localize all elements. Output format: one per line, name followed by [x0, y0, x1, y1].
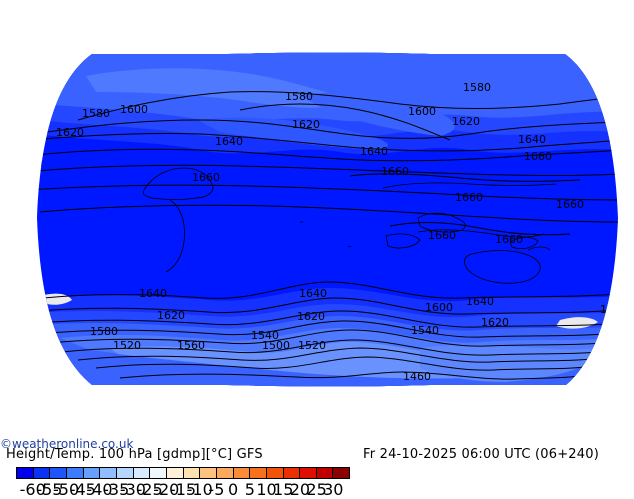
color-swatch [250, 468, 267, 478]
contour-label: 1660 [428, 229, 456, 242]
color-scale-ticks: -60-55-50-45-40-35-30-25-20-15-10-505101… [16, 480, 350, 491]
contour-label: 1620 [292, 118, 320, 131]
color-swatch [333, 468, 349, 478]
color-swatch [150, 468, 167, 478]
contour-label: 1660 [556, 198, 584, 211]
contour-label: 1660 [524, 150, 552, 163]
contour-label: 1580 [285, 90, 313, 103]
contour-label: 1620 [452, 115, 480, 128]
color-swatch [234, 468, 251, 478]
color-scale-bar[interactable] [16, 467, 350, 479]
footer: Height/Temp. 100 hPa [gdmp][°C] GFS Fr 2… [0, 437, 634, 490]
contour-label: 1620 [157, 309, 185, 322]
contour-label: 1580 [82, 107, 110, 120]
color-swatch [300, 468, 317, 478]
contour-label: 1540 [411, 324, 439, 337]
weather-map-page: 1580158016001600162016201580158016001600… [0, 0, 634, 490]
page-title: Height/Temp. 100 hPa [gdmp][°C] GFS [6, 447, 263, 462]
color-swatch [317, 468, 334, 478]
contour-label: 1600 [425, 301, 453, 314]
contour-label: 1620 [481, 316, 509, 329]
map-canvas[interactable]: 1580158016001600162016201580158016001600… [0, 0, 634, 437]
contour-label: 1640 [518, 133, 546, 146]
contour-label: 1520 [113, 339, 141, 352]
color-swatch [267, 468, 284, 478]
color-swatch [100, 468, 117, 478]
color-swatch [184, 468, 201, 478]
color-swatch [217, 468, 234, 478]
map-field-layer: 1580158016001600162016201580158016001600… [20, 45, 628, 395]
color-swatch [34, 468, 51, 478]
color-swatch [67, 468, 84, 478]
contour-label: 1560 [177, 339, 205, 352]
color-swatch [167, 468, 184, 478]
color-swatch [17, 468, 34, 478]
contour-label: 1460 [403, 370, 431, 383]
contour-label: 1640 [299, 287, 327, 300]
contour-label: 1640 [215, 135, 243, 148]
map-panel[interactable]: 1580158016001600162016201580158016001600… [0, 0, 634, 437]
contour-label: 1600 [120, 103, 148, 116]
contour-label: 1660 [495, 233, 523, 246]
color-swatch [284, 468, 301, 478]
contour-label: 1660 [381, 165, 409, 178]
color-swatch [50, 468, 67, 478]
valid-datetime: Fr 24-10-2025 06:00 UTC (06+240) [363, 447, 599, 462]
contour-label: 1580 [463, 81, 491, 94]
contour-label: 1660 [192, 171, 220, 184]
contour-label: 1580 [90, 325, 118, 338]
contour-label: 1620 [56, 126, 84, 139]
contour-label: 1520 [298, 339, 326, 352]
contour-label: 1600 [408, 105, 436, 118]
contour-label: 1640 [139, 287, 167, 300]
color-swatch [117, 468, 134, 478]
contour-label: 1640 [360, 145, 388, 158]
color-scale[interactable] [16, 467, 350, 479]
color-swatch [200, 468, 217, 478]
contour-label: 1660 [455, 191, 483, 204]
contour-label: 1500 [262, 339, 290, 352]
color-swatch [134, 468, 151, 478]
contour-label: 1620 [297, 310, 325, 323]
contour-label: 1640 [466, 295, 494, 308]
color-swatch [84, 468, 101, 478]
